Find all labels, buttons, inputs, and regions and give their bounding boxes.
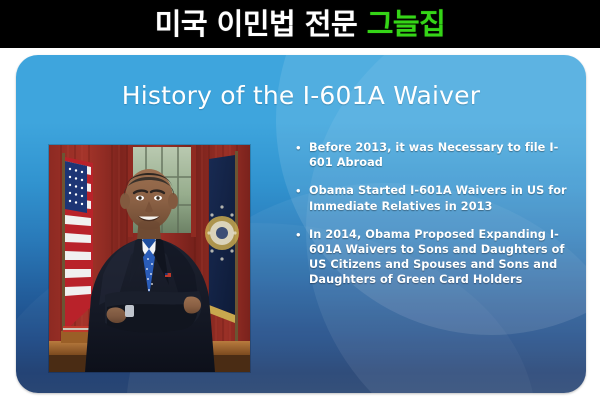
bullet-marker-icon: • <box>296 183 309 198</box>
slide-title: History of the I-601A Waiver <box>16 82 586 110</box>
header-title: 미국 이민법 전문 그늘집 <box>155 10 446 39</box>
screenshot-root: 미국 이민법 전문 그늘집 History of the I-601A Waiv… <box>0 0 600 406</box>
header-title-accent: 그늘집 <box>367 7 446 41</box>
obama-portrait-illustration <box>49 145 250 372</box>
bullet-text-3: In 2014, Obama Proposed Expanding I-601A… <box>309 227 571 288</box>
obama-portrait-photo <box>49 145 250 372</box>
bullet-text-1: Before 2013, it was Necessary to file I-… <box>309 140 571 170</box>
bullet-marker-icon: • <box>296 227 309 242</box>
header-title-main: 미국 이민법 전문 <box>155 7 357 41</box>
bullet-list: • Before 2013, it was Necessary to file … <box>296 140 571 301</box>
bullet-text-2: Obama Started I-601A Waivers in US for I… <box>309 183 571 213</box>
bullet-item-3: • In 2014, Obama Proposed Expanding I-60… <box>296 227 571 288</box>
bullet-item-1: • Before 2013, it was Necessary to file … <box>296 140 571 170</box>
presentation-slide: History of the I-601A Waiver <box>16 55 586 393</box>
header-banner: 미국 이민법 전문 그늘집 <box>0 0 600 48</box>
bullet-item-2: • Obama Started I-601A Waivers in US for… <box>296 183 571 213</box>
bullet-marker-icon: • <box>296 140 309 155</box>
